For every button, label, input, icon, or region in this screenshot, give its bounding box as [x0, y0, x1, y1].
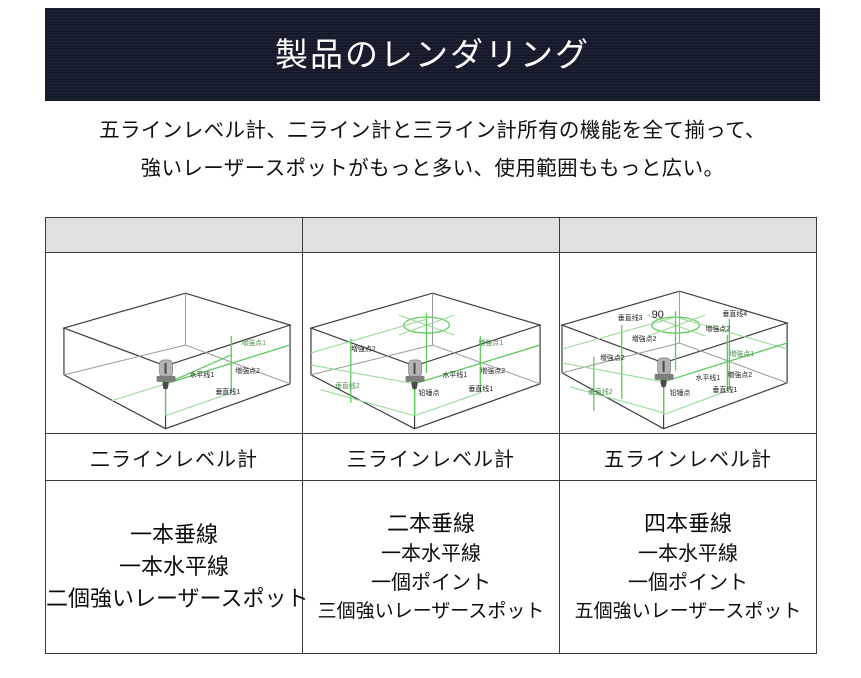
room-wireframe: [311, 293, 540, 428]
room-diagram-five-line: 90 垂直线3 垂直线4 増強点2 増強点2 増強点2 増強点1 増強点2 水平…: [560, 253, 816, 433]
spec-line: 一本水平線: [560, 540, 816, 569]
subtitle-line-2: 強いレーザースポットがもっと多い、使用範囲ももっと広い。: [45, 150, 820, 188]
label-enhanced-point-1: 増強点1: [241, 338, 266, 347]
subtitle-line-1: 五ラインレベル計、二ライン計と三ライン計所有の機能を全て揃って、: [99, 119, 766, 142]
subtitle-block: 五ラインレベル計、二ライン計と三ライン計所有の機能を全て揃って、 強いレーザース…: [45, 112, 820, 188]
product-name-three-line: 三ラインレベル計: [303, 434, 560, 481]
label-plumb-point: 铅锤点: [670, 388, 691, 397]
label-horizontal-line-1: 水平线1: [695, 373, 720, 382]
diagram-labels: 増強点1 増強点2 水平线1 垂直线1: [189, 338, 266, 396]
diagram-cell-five-line: 90 垂直线3 垂直线4 増強点2 増強点2 増強点2 増強点1 増強点2 水平…: [560, 253, 817, 434]
page-header-banner: 製品のレンダリング: [45, 8, 820, 101]
spec-line: 四本垂線: [560, 508, 816, 540]
product-name-two-line: 二ラインレベル計: [46, 434, 303, 481]
label-enhanced-point-2: 増強点2: [235, 366, 260, 375]
product-comparison-table: 増強点1 増強点2 水平线1 垂直线1: [45, 217, 817, 654]
label-enhanced-point-2: 増強点2: [727, 370, 752, 379]
product-name-five-line: 五ラインレベル計: [560, 434, 817, 481]
diagram-row: 増強点1 増強点2 水平线1 垂直线1: [46, 253, 817, 434]
spec-line: 一本水平線: [303, 540, 559, 569]
label-plumb-point: 铅锤点: [419, 388, 440, 397]
label-enhanced-point-2-center: 増強点2: [632, 334, 657, 343]
spec-row: 一本垂線 一本水平線 二個強いレーザースポット 二本垂線 一本水平線 一個ポイン…: [46, 481, 817, 654]
label-enhanced-point-1: 増強点1: [478, 338, 503, 347]
room-wireframe: [64, 293, 290, 428]
label-enhanced-point-2-right-back: 増強点2: [705, 324, 730, 333]
laser-level-device-icon: [655, 358, 674, 387]
label-vertical-line-4: 垂直线4: [722, 309, 747, 318]
label-enhanced-point-2-left: 増強点2: [600, 353, 625, 362]
laser-lines: [562, 311, 787, 415]
label-vertical-line-2: 垂直线2: [588, 387, 613, 396]
header-cell-2: [303, 218, 560, 253]
label-vertical-line-3: 垂直线3: [618, 313, 643, 322]
label-horizontal-line-1: 水平线1: [442, 370, 467, 379]
page-title: 製品のレンダリング: [275, 38, 590, 71]
spec-line: 一個ポイント: [303, 569, 559, 598]
spec-line: 三個強いレーザースポット: [303, 598, 559, 626]
spec-cell-five-line: 四本垂線 一本水平線 一個ポイント 五個強いレーザースポット: [560, 481, 817, 654]
label-enhanced-point-1: 増強点1: [729, 349, 754, 358]
spec-line: 五個強いレーザースポット: [560, 598, 816, 626]
diagram-cell-two-line: 増強点1 増強点2 水平线1 垂直线1: [46, 253, 303, 434]
spec-cell-three-line: 二本垂線 一本水平線 一個ポイント 三個強いレーザースポット: [303, 481, 560, 654]
laser-level-device-icon: [406, 360, 425, 389]
label-enhanced-point-2: 増強点2: [480, 366, 505, 375]
spec-cell-two-line: 一本垂線 一本水平線 二個強いレーザースポット: [46, 481, 303, 654]
label-horizontal-line-1: 水平线1: [189, 370, 214, 379]
label-vertical-line-1: 垂直线1: [712, 385, 737, 394]
label-angle-90: 90: [652, 309, 664, 321]
room-diagram-three-line: 増強点2 垂直线2 増強点1 増強点2 水平线1 垂直线1 铅锤点: [303, 253, 559, 433]
diagram-cell-three-line: 増強点2 垂直线2 増強点1 増強点2 水平线1 垂直线1 铅锤点: [303, 253, 560, 434]
header-cell-3: [560, 218, 817, 253]
room-wireframe: [562, 291, 787, 428]
header-cell-1: [46, 218, 303, 253]
label-vertical-line-1: 垂直线1: [468, 384, 493, 393]
product-name-row: 二ラインレベル計 三ラインレベル計 五ラインレベル計: [46, 434, 817, 481]
spec-line: 一本水平線: [46, 551, 302, 583]
spec-line: 一個ポイント: [560, 569, 816, 598]
spec-line: 二個強いレーザースポット: [46, 583, 302, 615]
laser-lines: [311, 313, 540, 416]
room-diagram-two-line: 増強点1 増強点2 水平线1 垂直线1: [46, 253, 302, 433]
label-vertical-line-1: 垂直线1: [215, 387, 240, 396]
label-vertical-line-2: 垂直线2: [335, 381, 360, 390]
spec-line: 二本垂線: [303, 508, 559, 540]
spec-line: 一本垂線: [46, 519, 302, 551]
laser-level-device-icon: [157, 360, 176, 389]
label-enhanced-point-2-left: 増強点2: [351, 344, 376, 353]
table-header-row: [46, 218, 817, 253]
